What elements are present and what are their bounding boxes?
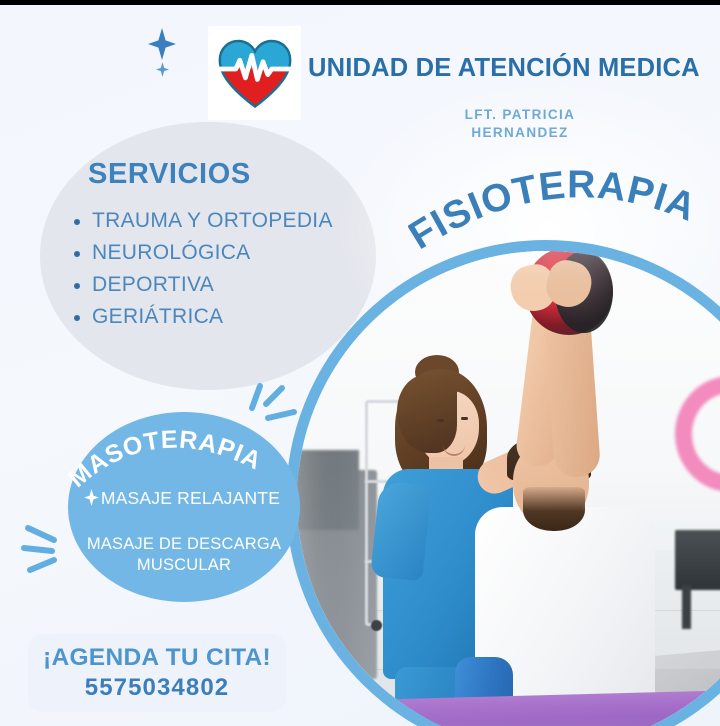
- masoterapia-arc-text: MASOTERAPIA: [63, 426, 266, 493]
- logo-container: [208, 26, 301, 120]
- masoterapia-badge: MASOTERAPIA MASAJE RELAJANTE MASAJE DE D…: [60, 408, 308, 608]
- services-section: SERVICIOS TRAUMA Y ORTOPEDIA NEUROLÓGICA…: [60, 158, 390, 337]
- fisioterapia-arc-text: FISIOTERAPIA: [408, 168, 702, 258]
- service-item: DEPORTIVA: [60, 273, 390, 297]
- services-title: SERVICIOS: [88, 158, 390, 191]
- sparkle-icon: [156, 62, 169, 77]
- clinic-bench: [675, 530, 720, 590]
- header: UNIDAD DE ATENCIÓN MEDICA LFT. PATRICIA …: [0, 18, 720, 136]
- masoterapia-item-2: MASAJE DE DESCARGA MUSCULAR: [64, 534, 304, 575]
- service-item: NEUROLÓGICA: [60, 241, 390, 265]
- masoterapia-item-2-line1: MASAJE DE DESCARGA: [87, 535, 281, 553]
- services-list: TRAUMA Y ORTOPEDIA NEUROLÓGICA DEPORTIVA…: [60, 209, 390, 329]
- heart-ecg-logo: [215, 33, 295, 113]
- brand-title: UNIDAD DE ATENCIÓN MEDICA: [308, 54, 700, 83]
- brand-subtitle-line2: HERNANDEZ: [471, 125, 568, 140]
- brand-subtitle-line1: LFT. PATRICIA: [465, 107, 576, 122]
- poster-canvas: UNIDAD DE ATENCIÓN MEDICA LFT. PATRICIA …: [0, 0, 720, 726]
- masoterapia-item-2-line2: MUSCULAR: [137, 556, 231, 574]
- cta-headline: ¡AGENDA TU CITA!: [43, 644, 271, 672]
- service-item: GERIÁTRICA: [60, 305, 390, 329]
- top-black-strip: [0, 0, 720, 5]
- brand-subtitle: LFT. PATRICIA HERNANDEZ: [390, 106, 650, 142]
- sparkle-icon: [148, 28, 176, 60]
- sparkle-icon: [84, 489, 99, 506]
- cta-appointment[interactable]: ¡AGENDA TU CITA! 5575034802: [28, 634, 286, 712]
- fisioterapia-arc-label: FISIOTERAPIA: [408, 168, 720, 260]
- masoterapia-item-1: MASAJE RELAJANTE: [54, 488, 310, 509]
- cta-phone-number[interactable]: 5575034802: [85, 674, 229, 702]
- masoterapia-item-1-label: MASAJE RELAJANTE: [101, 488, 280, 508]
- service-item: TRAUMA Y ORTOPEDIA: [60, 209, 390, 233]
